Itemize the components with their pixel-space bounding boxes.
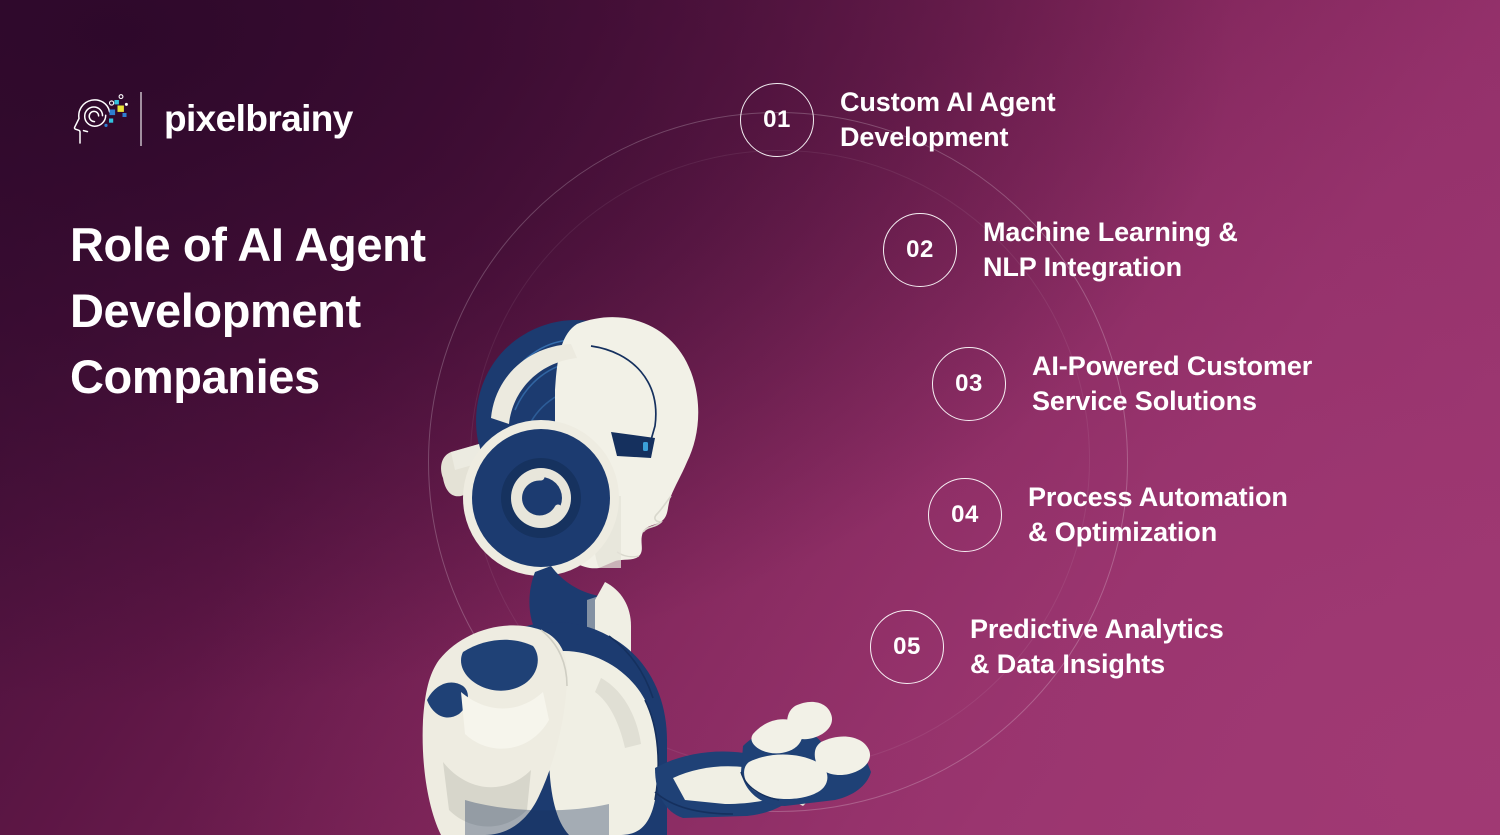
list-item-label: AI-Powered Customer Service Solutions <box>1032 349 1312 420</box>
list-item-label: Machine Learning & NLP Integration <box>983 215 1238 286</box>
infographic-canvas: pixelbrainy Role of AI Agent Development… <box>0 0 1500 835</box>
list-item-label: Predictive Analytics & Data Insights <box>970 612 1224 683</box>
list-item-number-badge: 02 <box>883 213 957 287</box>
list-item[interactable]: 02 Machine Learning & NLP Integration <box>883 213 1238 287</box>
list-item-number-badge: 04 <box>928 478 1002 552</box>
list-item-number-badge: 03 <box>932 347 1006 421</box>
list-item[interactable]: 05 Predictive Analytics & Data Insights <box>870 610 1224 684</box>
list-item[interactable]: 01 Custom AI Agent Development <box>740 83 1056 157</box>
list-item[interactable]: 03 AI-Powered Customer Service Solutions <box>932 347 1312 421</box>
list-item-label: Custom AI Agent Development <box>840 85 1056 156</box>
list-item[interactable]: 04 Process Automation & Optimization <box>928 478 1288 552</box>
list-item-label: Process Automation & Optimization <box>1028 480 1288 551</box>
list-item-number-badge: 05 <box>870 610 944 684</box>
list-item-number-badge: 01 <box>740 83 814 157</box>
service-list: 01 Custom AI Agent Development 02 Machin… <box>0 0 1500 835</box>
